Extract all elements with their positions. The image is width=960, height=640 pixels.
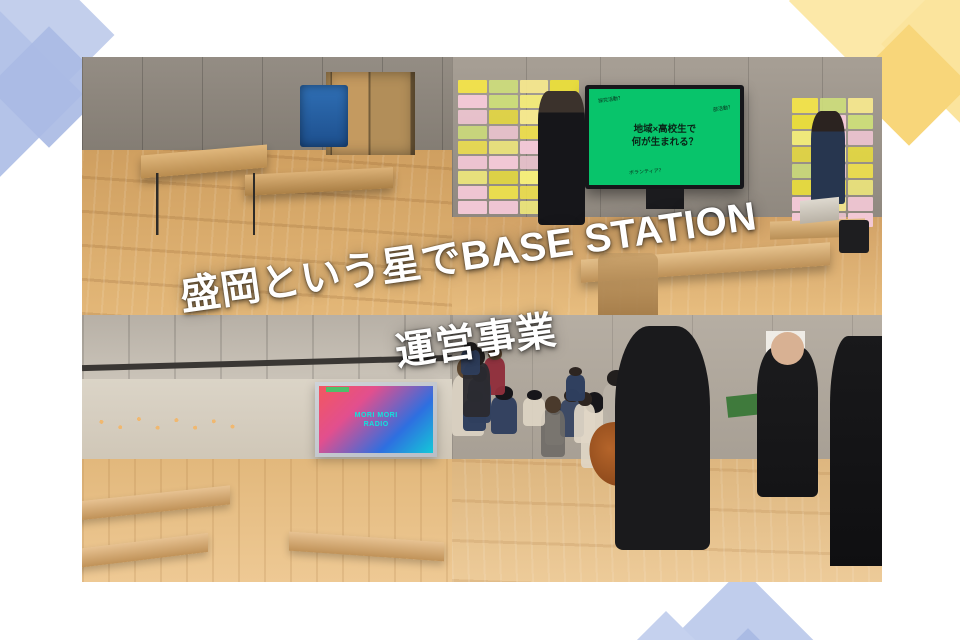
presenter-figure: [538, 91, 585, 225]
projected-slide: MORI MORI RADIO: [319, 386, 433, 453]
violinist-figure: [757, 347, 817, 497]
photo-seminar: MORI MORI RADIO: [82, 315, 452, 582]
projected-slide-green-bar: [326, 387, 349, 392]
decor-diamond-top-right-2: [881, 0, 960, 129]
foreground-musician: [830, 336, 882, 566]
student-figure: [811, 111, 845, 204]
cellist-figure: [615, 326, 710, 550]
workshop-table-legs: [149, 173, 267, 235]
seminar-garland-lights: [89, 411, 244, 438]
projected-slide-caption: MORI MORI RADIO: [348, 412, 405, 430]
photo-concert: [452, 315, 882, 582]
decor-diamond-bottom-right-3: [680, 628, 816, 640]
screen-tag-top-right: 部活動？: [712, 103, 733, 113]
seminar-ceiling: [82, 315, 452, 382]
photo-collage: 探究活動？ 部活動？ 地域×高校生で 何が生まれる？ ボランティア？: [82, 57, 882, 582]
presentation-chair: [598, 253, 658, 315]
violinist-face: [771, 332, 805, 365]
slide-canvas: 探究活動？ 部活動？ 地域×高校生で 何が生まれる？ ボランティア？: [0, 0, 960, 640]
seminar-floor: [82, 459, 452, 582]
photo-presentation: 探究活動？ 部活動？ 地域×高校生で 何が生まれる？ ボランティア？: [452, 57, 882, 315]
presentation-speaker: [839, 220, 869, 254]
screen-tag-top-left: 探究活動？: [598, 94, 624, 104]
workshop-blue-bins: [300, 85, 348, 147]
presentation-laptop: [800, 197, 839, 224]
presentation-monitor: 探究活動？ 部活動？ 地域×高校生で 何が生まれる？ ボランティア？: [585, 85, 744, 188]
photo-workshop: [82, 57, 452, 315]
screen-heading-line-1: 地域×高校生で: [634, 124, 697, 137]
seminar-projector-screen: MORI MORI RADIO: [315, 382, 437, 457]
monitor-stand: [646, 189, 685, 210]
presentation-screen: 探究活動？ 部活動？ 地域×高校生で 何が生まれる？ ボランティア？: [589, 89, 740, 184]
decor-diamond-bottom-right-2: [601, 611, 731, 640]
decor-diamond-top-left-2: [0, 9, 83, 179]
screen-tag-bottom: ボランティア？: [628, 167, 663, 176]
screen-heading-line-2: 何が生まれる？: [632, 137, 699, 150]
